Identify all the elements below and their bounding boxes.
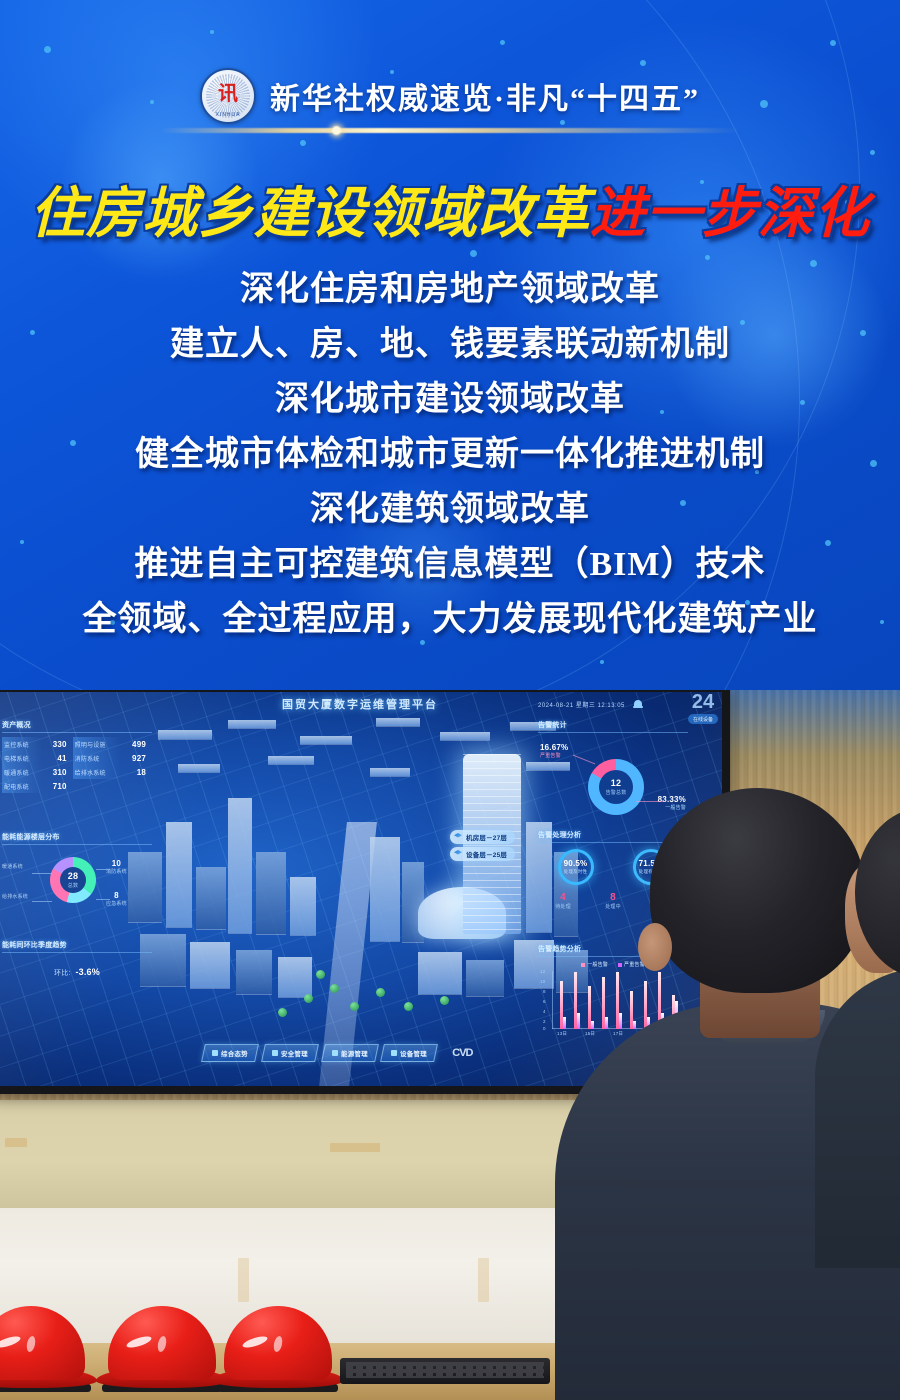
floor-tag-group[interactable]: 机房层－27层 设备层－25层 bbox=[450, 830, 515, 864]
asset-name: 照明与设施 bbox=[73, 737, 122, 751]
trend-value-row: 环比: -3.6% bbox=[2, 967, 152, 978]
decor-dot bbox=[500, 40, 505, 45]
energy-trend-panel[interactable]: 能耗同环比季度趋势 环比: -3.6% bbox=[2, 940, 152, 978]
dashboard-datetime-group: 2024-08-21 星期三 12:13:05 bbox=[538, 699, 643, 710]
dashboard-datetime: 2024-08-21 星期三 12:13:05 bbox=[538, 700, 625, 709]
y-tick: 6 bbox=[543, 999, 546, 1004]
asset-overview-panel[interactable]: 资产概况 监控系统 330 照明与设施 499 电梯系统 41 消防系统 927 bbox=[2, 720, 152, 793]
table-row[interactable]: 电梯系统 41 消防系统 927 bbox=[2, 751, 152, 765]
asset-name: 配电系统 bbox=[2, 779, 42, 793]
trend-value-label: 环比: bbox=[54, 970, 71, 977]
trend-value: -3.6% bbox=[75, 967, 100, 977]
wall-tape-mark bbox=[5, 1138, 27, 1147]
table-row[interactable]: 配电系统 710 bbox=[2, 779, 152, 793]
list-item: 深化住房和房地产领域改革 bbox=[240, 262, 660, 317]
bar-severe[interactable] bbox=[563, 1017, 566, 1029]
energy-donut-total: 28 bbox=[68, 872, 78, 881]
headline-part-red: 进一步深化 bbox=[590, 168, 870, 248]
alarm-total-value: 12 bbox=[611, 779, 621, 788]
decor-dot bbox=[600, 660, 604, 664]
alarm-panel-title: 告警统计 bbox=[538, 720, 688, 733]
person-ear bbox=[638, 923, 672, 971]
leader-line bbox=[32, 901, 52, 902]
keyboard[interactable] bbox=[340, 1358, 550, 1384]
headline-part-yellow: 住房城乡建设领域改革 bbox=[30, 168, 590, 248]
stat-value: 4 bbox=[555, 892, 571, 903]
asset-value: 927 bbox=[121, 751, 152, 765]
dashboard-title: 国贸大厦数字运维管理平台 bbox=[282, 696, 438, 712]
y-tick: 4 bbox=[543, 1009, 546, 1014]
asset-value: 710 bbox=[42, 779, 73, 793]
person-background bbox=[845, 808, 900, 1228]
ring-label: 处理及时性 bbox=[564, 869, 588, 875]
energy-distribution-panel[interactable]: 能耗能源楼层分布 28 总数 10 消防系统 8 应急系统 bbox=[2, 832, 152, 919]
nav-item-equipment[interactable]: 设备管理 bbox=[381, 1044, 439, 1062]
table-row[interactable]: 暖通系统 310 给排水系统 18 bbox=[2, 765, 152, 779]
vendor-logo: CVD bbox=[452, 1047, 472, 1059]
asset-value-empty bbox=[121, 779, 152, 793]
list-item: 深化建筑领域改革 bbox=[310, 482, 590, 537]
decor-dot bbox=[705, 255, 710, 260]
online-device-label: 在线设备 bbox=[688, 714, 718, 724]
asset-name: 暖通系统 bbox=[2, 765, 42, 779]
asset-table: 监控系统 330 照明与设施 499 电梯系统 41 消防系统 927 暖通系统… bbox=[2, 737, 152, 793]
nav-item-overview[interactable]: 综合态势 bbox=[201, 1044, 259, 1062]
poster-banner: 讯 XINHUA 新华社权威速览·非凡“十四五” 住房城乡建设领域改革进一步深化… bbox=[0, 0, 900, 690]
floor-tag[interactable]: 机房层－27层 bbox=[450, 830, 515, 844]
ring-value: 90.5% bbox=[564, 859, 588, 868]
wall-tape-mark bbox=[238, 1258, 249, 1302]
hard-hat[interactable] bbox=[96, 1310, 228, 1392]
trend-panel-title: 能耗同环比季度趋势 bbox=[2, 940, 152, 953]
decor-dot bbox=[830, 40, 836, 46]
nav-label: 安全管理 bbox=[281, 1048, 308, 1058]
city-3d-model[interactable] bbox=[118, 702, 588, 1082]
severe-alarm-pct: 16.67% bbox=[540, 743, 568, 752]
grid-icon bbox=[212, 1050, 218, 1056]
online-device-count: 24 bbox=[688, 692, 718, 712]
decor-dot bbox=[44, 46, 51, 53]
list-item: 全领域、全过程应用，大力发展现代化建筑产业 bbox=[83, 592, 818, 647]
y-tick: 10 bbox=[540, 979, 545, 984]
xinhua-logo-icon: 讯 XINHUA bbox=[200, 68, 256, 124]
asset-panel-title: 资产概况 bbox=[2, 720, 152, 733]
x-tick: 13日 bbox=[557, 1031, 567, 1037]
dashboard-bottom-nav[interactable]: 综合态势 安全管理 能源管理 设备管理 CVD bbox=[203, 1044, 472, 1062]
decor-dot bbox=[470, 250, 477, 257]
asset-name: 监控系统 bbox=[2, 737, 42, 751]
logo-arc-text: XINHUA bbox=[216, 112, 241, 118]
list-item: 深化城市建设领域改革 bbox=[275, 372, 625, 427]
table-row[interactable]: 监控系统 330 照明与设施 499 bbox=[2, 737, 152, 751]
hard-hat[interactable] bbox=[212, 1310, 344, 1392]
energy-value: 10 bbox=[106, 859, 127, 868]
bar-severe[interactable] bbox=[605, 1017, 608, 1029]
decor-dot bbox=[870, 150, 875, 155]
wall-tape-mark bbox=[478, 1258, 489, 1302]
leader-line bbox=[573, 755, 596, 765]
asset-name: 消防系统 bbox=[73, 751, 122, 765]
severe-alarm-label: 严重告警 bbox=[540, 752, 568, 759]
leader-line bbox=[96, 869, 110, 870]
asset-name: 给排水系统 bbox=[73, 765, 122, 779]
masthead: 讯 XINHUA 新华社权威速览·非凡“十四五” bbox=[0, 58, 900, 134]
masthead-title: 新华社权威速览·非凡“十四五” bbox=[270, 74, 700, 118]
asset-value: 41 bbox=[42, 751, 73, 765]
y-tick: 2 bbox=[543, 1019, 546, 1024]
asset-value: 310 bbox=[42, 765, 73, 779]
floor-tag[interactable]: 设备层－25层 bbox=[450, 847, 515, 861]
masthead-divider bbox=[160, 128, 740, 133]
severe-alarm-callout: 16.67% 严重告警 bbox=[540, 743, 568, 759]
gear-icon bbox=[391, 1050, 397, 1056]
asset-name-empty bbox=[73, 779, 122, 793]
online-device-badge: 24 在线设备 bbox=[688, 692, 718, 724]
x-tick: 15日 bbox=[585, 1031, 595, 1037]
energy-label-right: 10 消防系统 bbox=[106, 859, 127, 875]
nav-item-security[interactable]: 安全管理 bbox=[261, 1044, 319, 1062]
list-item: 推进自主可控建筑信息模型（BIM）技术 bbox=[135, 537, 766, 592]
nav-item-energy[interactable]: 能源管理 bbox=[321, 1044, 379, 1062]
stat-label: 待处理 bbox=[555, 904, 571, 910]
energy-donut-chart[interactable]: 28 总数 bbox=[50, 857, 96, 903]
y-tick: 12 bbox=[540, 969, 545, 974]
bar-severe[interactable] bbox=[577, 1013, 580, 1029]
logo-mark: 讯 bbox=[218, 84, 238, 104]
asset-value: 499 bbox=[121, 737, 152, 751]
energy-label-left-2: 给排水系统 bbox=[2, 893, 28, 900]
energy-label: 应急系统 bbox=[106, 900, 127, 907]
energy-donut-total-label: 总数 bbox=[68, 882, 78, 889]
hard-hat[interactable] bbox=[0, 1310, 97, 1392]
bolt-icon bbox=[332, 1050, 338, 1056]
nav-label: 设备管理 bbox=[400, 1048, 427, 1058]
bell-icon[interactable] bbox=[633, 699, 643, 710]
decor-dot bbox=[210, 30, 214, 34]
wall-tape-mark bbox=[330, 1143, 380, 1152]
handling-ring-timeliness[interactable]: 90.5% 处理及时性 bbox=[558, 849, 594, 885]
list-item: 健全城市体检和城市更新一体化推进机制 bbox=[135, 427, 765, 482]
person-head bbox=[650, 788, 865, 993]
energy-panel-title: 能耗能源楼层分布 bbox=[2, 832, 152, 845]
bar-severe[interactable] bbox=[591, 1021, 594, 1029]
asset-name: 电梯系统 bbox=[2, 751, 42, 765]
photograph-of-control-room: 国贸大厦数字运维管理平台 2024-08-21 星期三 12:13:05 24 … bbox=[0, 688, 900, 1400]
decor-dot bbox=[300, 140, 306, 146]
leader-line bbox=[32, 873, 52, 874]
asset-value: 18 bbox=[121, 765, 152, 779]
y-axis bbox=[552, 971, 553, 1029]
stat-pending: 4 待处理 bbox=[555, 892, 571, 910]
nav-label: 综合态势 bbox=[221, 1048, 248, 1058]
nav-label: 能源管理 bbox=[341, 1048, 368, 1058]
legend-label-general: 一般告警 bbox=[587, 961, 608, 968]
shield-icon bbox=[272, 1050, 278, 1056]
energy-label-left: 暖通系统 bbox=[2, 863, 23, 870]
y-tick: 0 bbox=[543, 1026, 546, 1031]
energy-donut-center: 28 总数 bbox=[60, 867, 86, 893]
page-title: 住房城乡建设领域改革进一步深化 bbox=[0, 172, 900, 244]
leader-line bbox=[96, 899, 110, 900]
asset-value: 330 bbox=[42, 737, 73, 751]
list-item: 建立人、房、地、钱要素联动新机制 bbox=[170, 317, 730, 372]
legend-swatch-general bbox=[581, 963, 585, 967]
bullet-list: 深化住房和房地产领域改革 建立人、房、地、钱要素联动新机制 深化城市建设领域改革… bbox=[0, 262, 900, 647]
y-tick: 8 bbox=[543, 989, 546, 994]
